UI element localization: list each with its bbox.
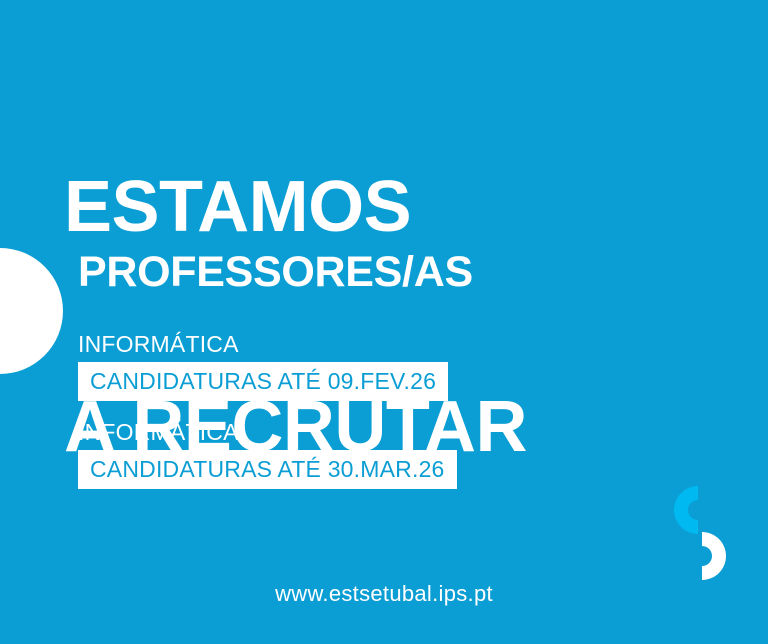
role-heading: PROFESSORES/AS	[78, 251, 473, 294]
vacancy-deadline-badge: CANDIDATURAS ATÉ 30.MAR.26	[78, 450, 457, 489]
website-url[interactable]: www.estsetubal.ips.pt	[0, 581, 768, 607]
list-item: INFORMÁTICA CANDIDATURAS ATÉ 09.FEV.26	[78, 332, 678, 417]
white-semicircle-decoration	[0, 248, 63, 374]
vacancy-area-label: INFORMÁTICA	[78, 420, 678, 444]
page-title: ESTAMOS A RECRUTAR	[64, 24, 527, 612]
headline-line-1: ESTAMOS	[64, 171, 527, 244]
vacancy-list: INFORMÁTICA CANDIDATURAS ATÉ 09.FEV.26 I…	[78, 332, 678, 508]
vacancy-area-label: INFORMÁTICA	[78, 332, 678, 356]
list-item: INFORMÁTICA CANDIDATURAS ATÉ 30.MAR.26	[78, 420, 678, 505]
recruitment-poster: ESTAMOS A RECRUTAR PROFESSORES/AS INFORM…	[0, 0, 768, 644]
vacancy-deadline-badge: CANDIDATURAS ATÉ 09.FEV.26	[78, 362, 448, 401]
logo-arc-white	[702, 532, 726, 580]
ips-estsetubal-logo-mark	[664, 484, 736, 582]
logo-arc-cyan	[674, 486, 698, 534]
